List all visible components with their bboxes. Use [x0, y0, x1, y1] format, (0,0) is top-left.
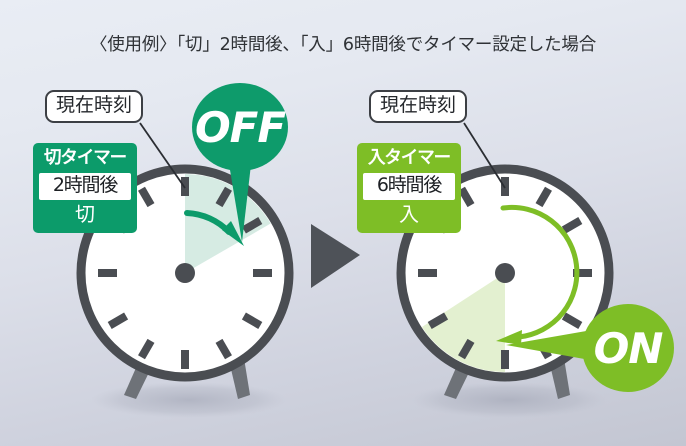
on-state-bubble: ON: [582, 304, 674, 392]
clock-shadow-right: [411, 382, 607, 418]
clock-right-hub: [495, 263, 515, 283]
off-timer-state: 切: [39, 203, 131, 227]
on-timer-value: 6時間後: [363, 173, 455, 200]
transition-arrow-icon: [311, 224, 360, 288]
current-time-callout-left: 現在時刻: [45, 90, 143, 123]
on-timer-state: 入: [363, 203, 455, 227]
on-timer-title: 入タイマー: [363, 148, 455, 169]
clock-left-hub: [175, 263, 195, 283]
off-timer-value: 2時間後: [39, 173, 131, 200]
off-timer-panel[interactable]: 切タイマー 2時間後 切: [33, 143, 137, 233]
on-timer-panel[interactable]: 入タイマー 6時間後 入: [357, 143, 461, 233]
off-timer-title: 切タイマー: [39, 148, 131, 169]
timer-example-figure: 〈使用例〉「切」2時間後、「入」6時間後でタイマー設定した場合: [0, 0, 686, 446]
current-time-callout-right: 現在時刻: [369, 90, 467, 123]
off-state-bubble: OFF: [192, 83, 288, 171]
clock-shadow-left: [91, 382, 287, 418]
